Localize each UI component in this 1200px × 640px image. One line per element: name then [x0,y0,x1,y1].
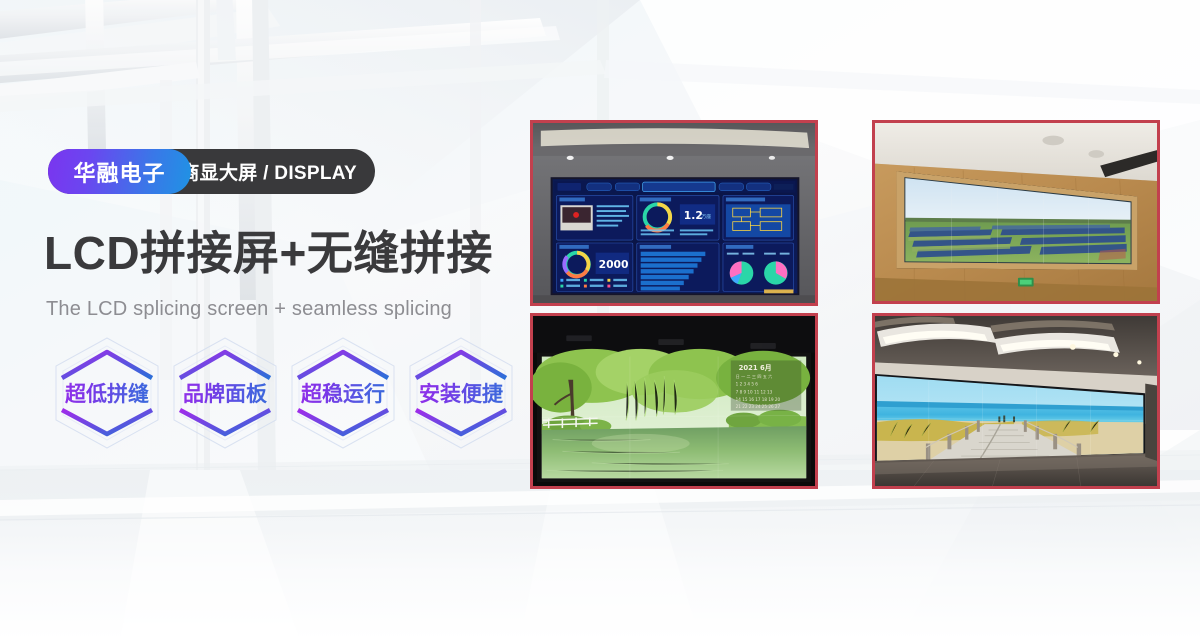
svg-text:1 2 3 4 5 6: 1 2 3 4 5 6 [736,382,759,387]
feature-label-3: 安装便捷 [402,378,520,408]
svg-text:7 8 9 10 11 12 13: 7 8 9 10 11 12 13 [736,389,773,394]
feature-badge-0: 超低拼缝 [48,334,166,452]
feature-label-0: 超低拼缝 [48,378,166,408]
solar-wall-photo-graphic [875,123,1157,301]
page-title: LCD拼接屏+无缝拼接 [44,228,514,280]
feature-badge-3: 安装便捷 [402,334,520,452]
page-subtitle: The LCD splicing screen + seamless splic… [46,298,452,321]
svg-text:1.2: 1.2 [684,209,703,222]
hero-text-column: 商显大屏 / DISPLAY 华融电子 LCD拼接屏+无缝拼接 The LCD … [0,0,520,640]
feature-badge-row: 超低拼缝 品牌面板 [48,334,518,452]
feature-badge-1: 品牌面板 [166,334,284,452]
photo-control-room-dashboard[interactable]: 1.2 万座 [530,120,818,306]
svg-text:21 22 23 24 25 26 27: 21 22 23 24 25 26 27 [736,404,781,409]
dashboard-photo-graphic: 1.2 万座 [533,123,815,303]
beach-wall-photo-graphic [875,316,1157,486]
feature-label-1: 品牌面板 [166,378,284,408]
lake-wall-photo-graphic: 2021 6月 日 一 二 三 四 五 六 1 2 3 4 5 6 7 8 9 … [533,316,815,486]
category-label: 商显大屏 / DISPLAY [180,158,357,185]
promo-banner: 商显大屏 / DISPLAY 华融电子 LCD拼接屏+无缝拼接 The LCD … [0,0,1200,640]
svg-text:14 15 16 17 18 19 20: 14 15 16 17 18 19 20 [736,397,781,402]
svg-text:日 一 二 三 四 五 六: 日 一 二 三 四 五 六 [736,373,773,379]
svg-text:万座: 万座 [701,213,711,220]
photo-beach-boardwalk-video-wall[interactable] [872,313,1160,489]
photo-solar-farm-video-wall[interactable] [872,120,1160,304]
photo-lake-scenery-video-wall[interactable]: 2021 6月 日 一 二 三 四 五 六 1 2 3 4 5 6 7 8 9 … [530,313,818,489]
feature-badge-2: 超稳运行 [284,334,402,452]
brand-pill: 华融电子 [48,149,191,194]
feature-label-2: 超稳运行 [284,378,402,408]
svg-text:2021 6月: 2021 6月 [739,364,772,372]
svg-text:2000: 2000 [599,258,629,271]
brand-name-label: 华融电子 [73,156,165,188]
